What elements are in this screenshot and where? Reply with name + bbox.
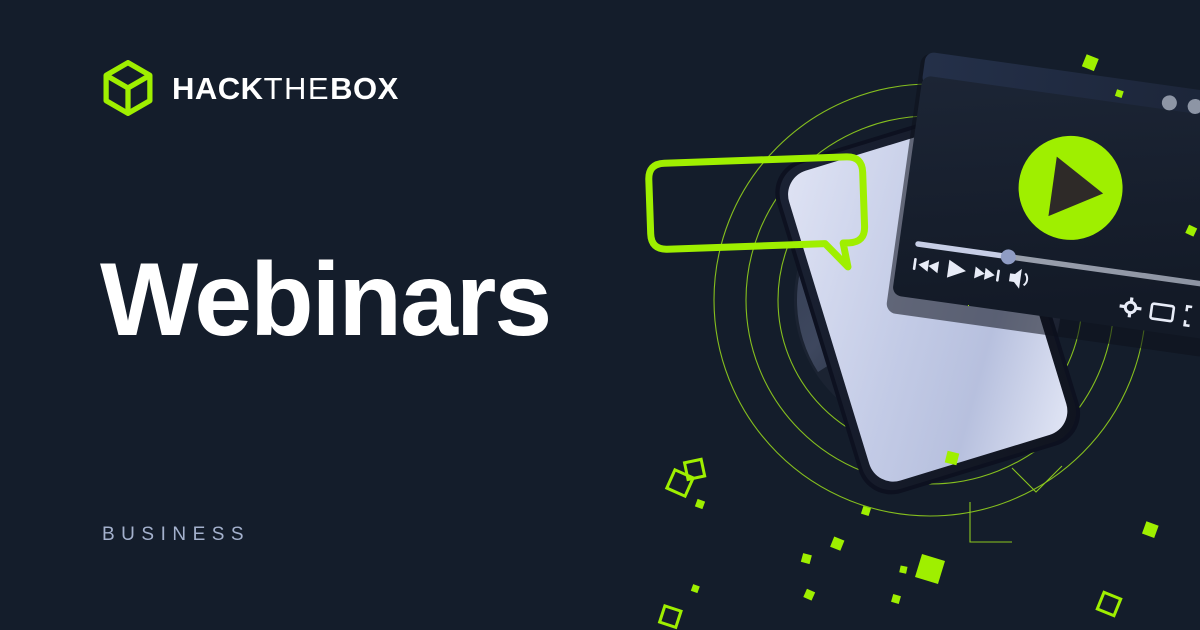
hackthebox-cube-icon xyxy=(100,60,156,116)
video-player[interactable] xyxy=(885,51,1200,358)
video-webinar-illustration xyxy=(640,0,1200,630)
wordmark-hack: HACK xyxy=(172,73,264,104)
wordmark-the: THE xyxy=(264,73,331,104)
wordmark-box: BOX xyxy=(330,73,399,104)
page-title: Webinars xyxy=(100,243,550,357)
hackthebox-logo[interactable]: HACKTHEBOX xyxy=(100,60,399,116)
hackthebox-wordmark: HACKTHEBOX xyxy=(172,73,399,104)
poster-canvas: HACKTHEBOX Webinars BUSINESS xyxy=(0,0,1200,630)
category-label: BUSINESS xyxy=(102,524,250,546)
